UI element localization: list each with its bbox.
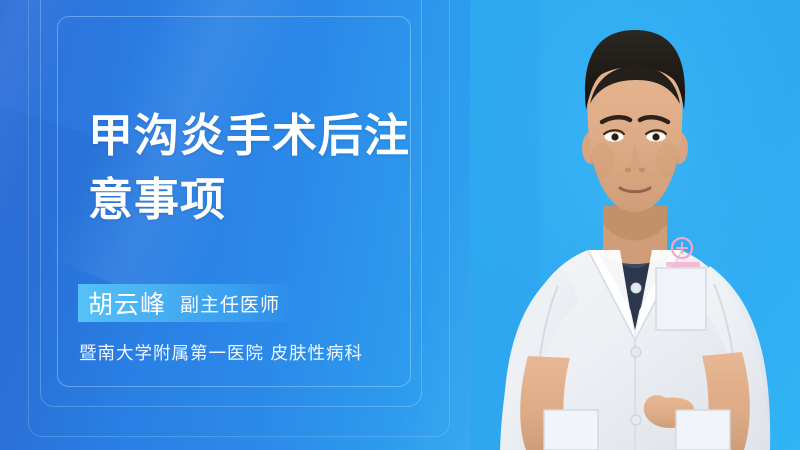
doctor-article-banner: 甲沟炎手术后注 意事项 胡云峰 副主任医师 暨南大学附属第一医院 皮肤性病科 <box>0 0 800 450</box>
banner-text-block: 甲沟炎手术后注 意事项 <box>88 104 518 232</box>
doctor-portrait <box>470 0 800 450</box>
doctor-hospital-department: 暨南大学附属第一医院 皮肤性病科 <box>79 340 363 365</box>
page-title: 甲沟炎手术后注 意事项 <box>88 104 518 232</box>
doctor-name-bar: 胡云峰 副主任医师 <box>78 284 292 322</box>
doctor-professional-title: 副主任医师 <box>180 290 280 317</box>
doctor-name: 胡云峰 <box>88 285 166 321</box>
